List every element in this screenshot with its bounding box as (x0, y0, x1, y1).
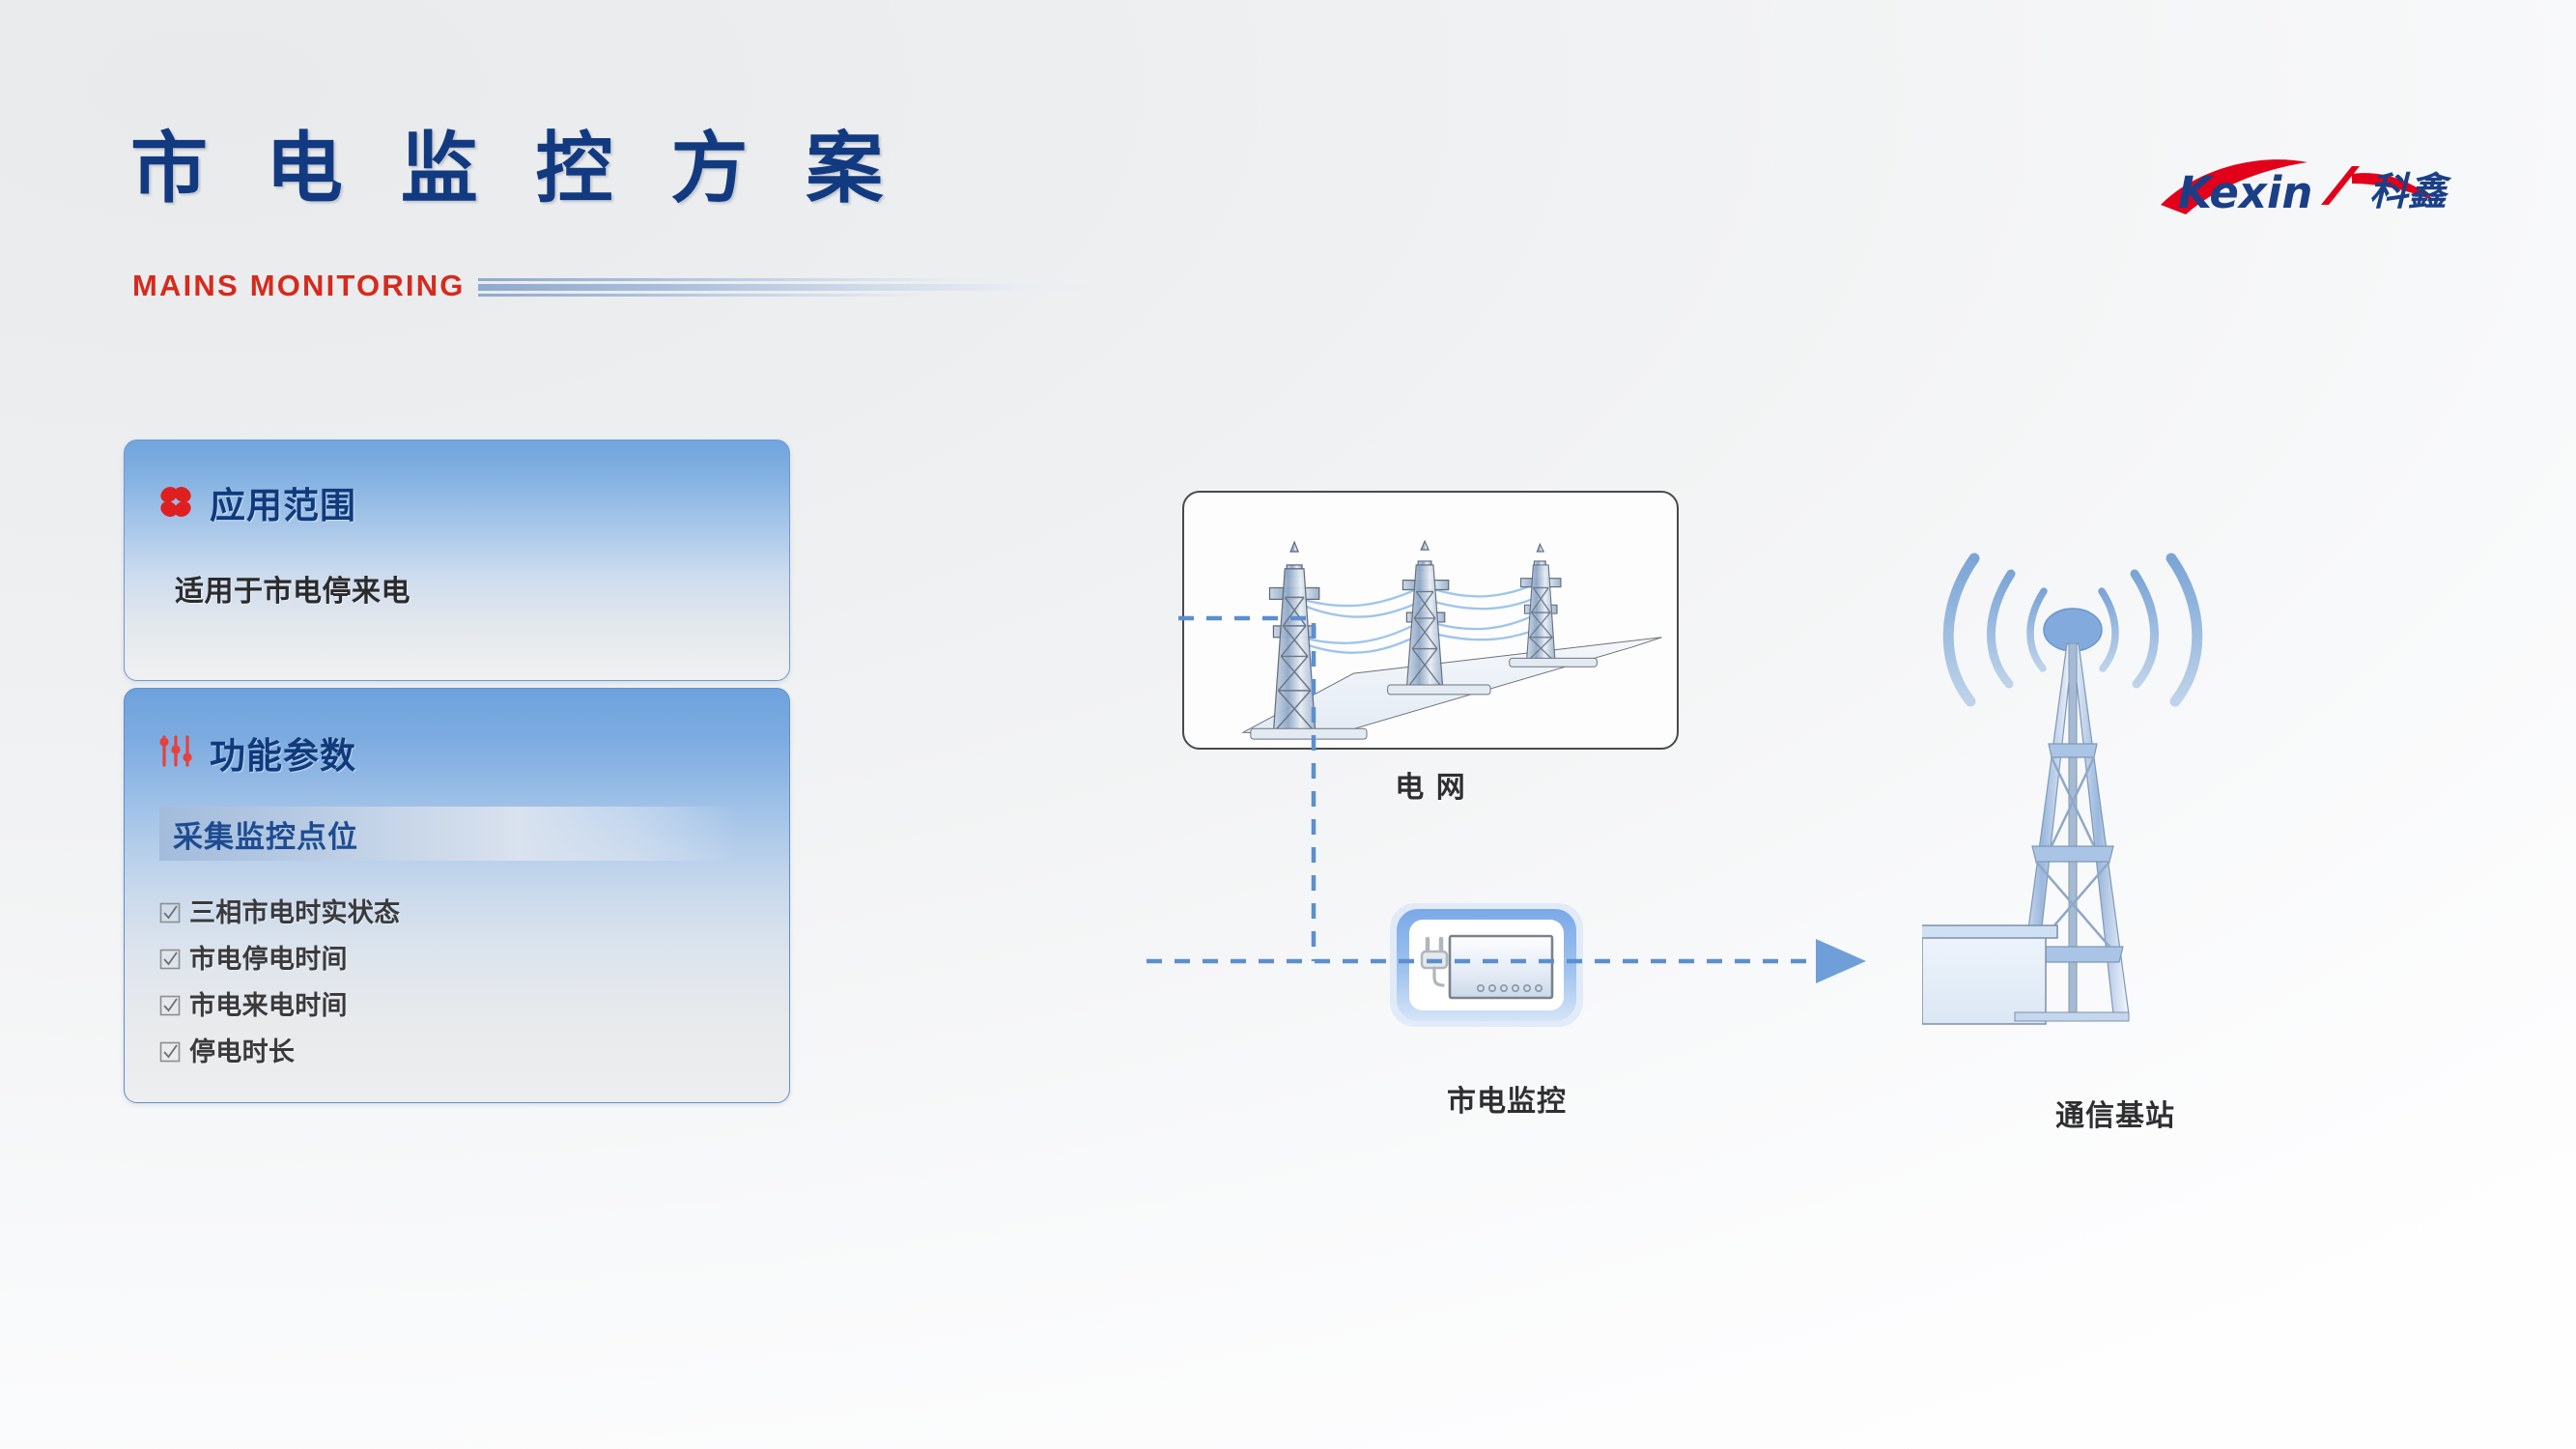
checkbox-checked-icon[interactable] (159, 1039, 181, 1061)
sliders-icon (156, 732, 196, 773)
list-item-label: 市电来电时间 (189, 984, 348, 1022)
title-underline-decoration (478, 270, 1098, 302)
slide-canvas: 市 电 监 控 方 案 MAINS MONITORING Kexin 科鑫 (0, 0, 2576, 1449)
svg-text:Kexin: Kexin (2178, 167, 2312, 218)
transmission-towers-icon (1184, 493, 1677, 748)
panel-header: 功能参数 (125, 689, 789, 793)
caption-mains-monitor: 市电监控 (1323, 1077, 1690, 1120)
svg-text:科鑫: 科鑫 (2369, 170, 2452, 214)
list-item-label: 三相市电时实状态 (189, 892, 400, 929)
parameter-checklist: 三相市电时实状态 市电停电时间 市电来电时间 (159, 892, 789, 1068)
panel-title: 应用范围 (210, 476, 356, 528)
checkbox-checked-icon[interactable] (159, 993, 181, 1014)
monitor-plug-device-icon (1383, 896, 1629, 1051)
list-item[interactable]: 三相市电时实状态 (159, 892, 789, 929)
power-grid-frame (1182, 491, 1679, 750)
list-item[interactable]: 市电停电时间 (159, 938, 789, 976)
panel-header: 应用范围 (125, 440, 789, 543)
caption-power-grid: 电 网 (1182, 763, 1679, 806)
page-subtitle: MAINS MONITORING (132, 269, 466, 303)
checkbox-checked-icon[interactable] (159, 900, 181, 922)
cell-tower-icon (1922, 512, 2308, 1092)
caption-base-station: 通信基站 (1922, 1092, 2308, 1134)
list-item[interactable]: 市电来电时间 (159, 984, 789, 1022)
panel-body-text: 适用于市电停来电 (125, 543, 789, 610)
page-title: 市 电 监 控 方 案 (130, 130, 898, 208)
subtitle-row: MAINS MONITORING (132, 269, 1098, 303)
list-item-label: 停电时长 (189, 1031, 295, 1068)
subsection-label: 采集监控点位 (159, 812, 358, 856)
checkbox-checked-icon[interactable] (159, 947, 181, 968)
kexin-logo: Kexin 科鑫 (2153, 155, 2472, 228)
list-item-label: 市电停电时间 (189, 938, 348, 976)
list-item[interactable]: 停电时长 (159, 1031, 789, 1068)
panel-title: 功能参数 (210, 726, 356, 779)
panel-function-parameters[interactable]: 功能参数 采集监控点位 三相市电时实状态 (124, 688, 790, 1103)
panel-application-scope[interactable]: 应用范围 适用于市电停来电 (124, 440, 790, 681)
title-block: 市 电 监 控 方 案 (130, 130, 898, 208)
clover-four-petal-icon (156, 482, 196, 523)
subsection-collection-points: 采集监控点位 (159, 807, 739, 861)
